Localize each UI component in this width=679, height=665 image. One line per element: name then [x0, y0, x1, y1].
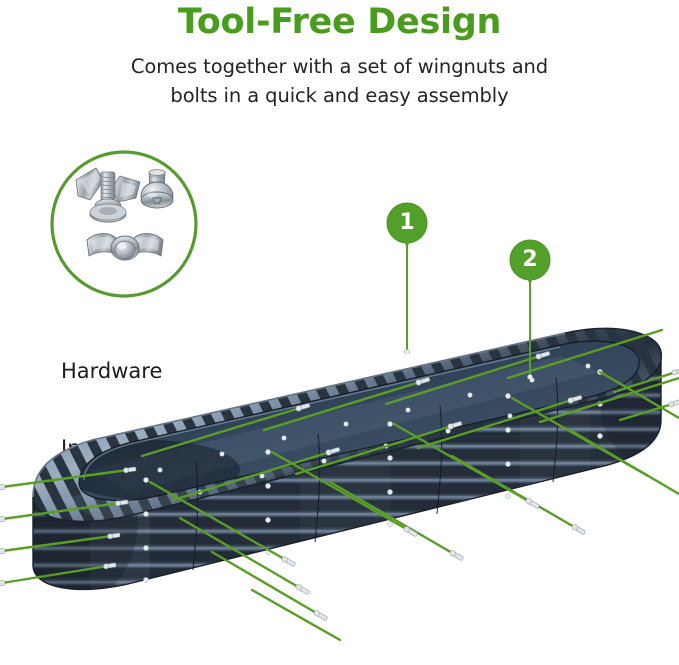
wingnut-on-bolt-icon [76, 168, 140, 222]
page-subtitle: Comes together with a set of wingnuts an… [0, 41, 679, 111]
callout-marker-2[interactable]: 2 [509, 239, 551, 379]
carriage-bolt-icon [141, 170, 173, 209]
callout-1-pin [386, 202, 428, 354]
hardware-label-line-1: Hardware [61, 359, 162, 385]
planter-panel-seams [193, 378, 558, 570]
hardware-included-label: Hardware Included [61, 308, 162, 513]
hardware-ring [48, 148, 200, 300]
planter-fastener-dots [143, 364, 602, 583]
callout-marker-1[interactable]: 1 [386, 202, 428, 354]
subtitle-line-1: Comes together with a set of wingnuts an… [0, 53, 679, 82]
hardware-label-line-2: Included [61, 436, 162, 462]
subtitle-line-2: bolts in a quick and easy assembly [0, 82, 679, 111]
badge-ring-circle [52, 152, 196, 296]
wingnut-icon [87, 234, 163, 260]
hardware-included-badge: Hardware Included [48, 148, 214, 358]
callout-2-pin [509, 239, 551, 379]
page-title: Tool-Free Design [0, 0, 679, 41]
hardware-badge-svg [48, 148, 200, 300]
infographic-header: Tool-Free Design Comes together with a s… [0, 0, 679, 110]
